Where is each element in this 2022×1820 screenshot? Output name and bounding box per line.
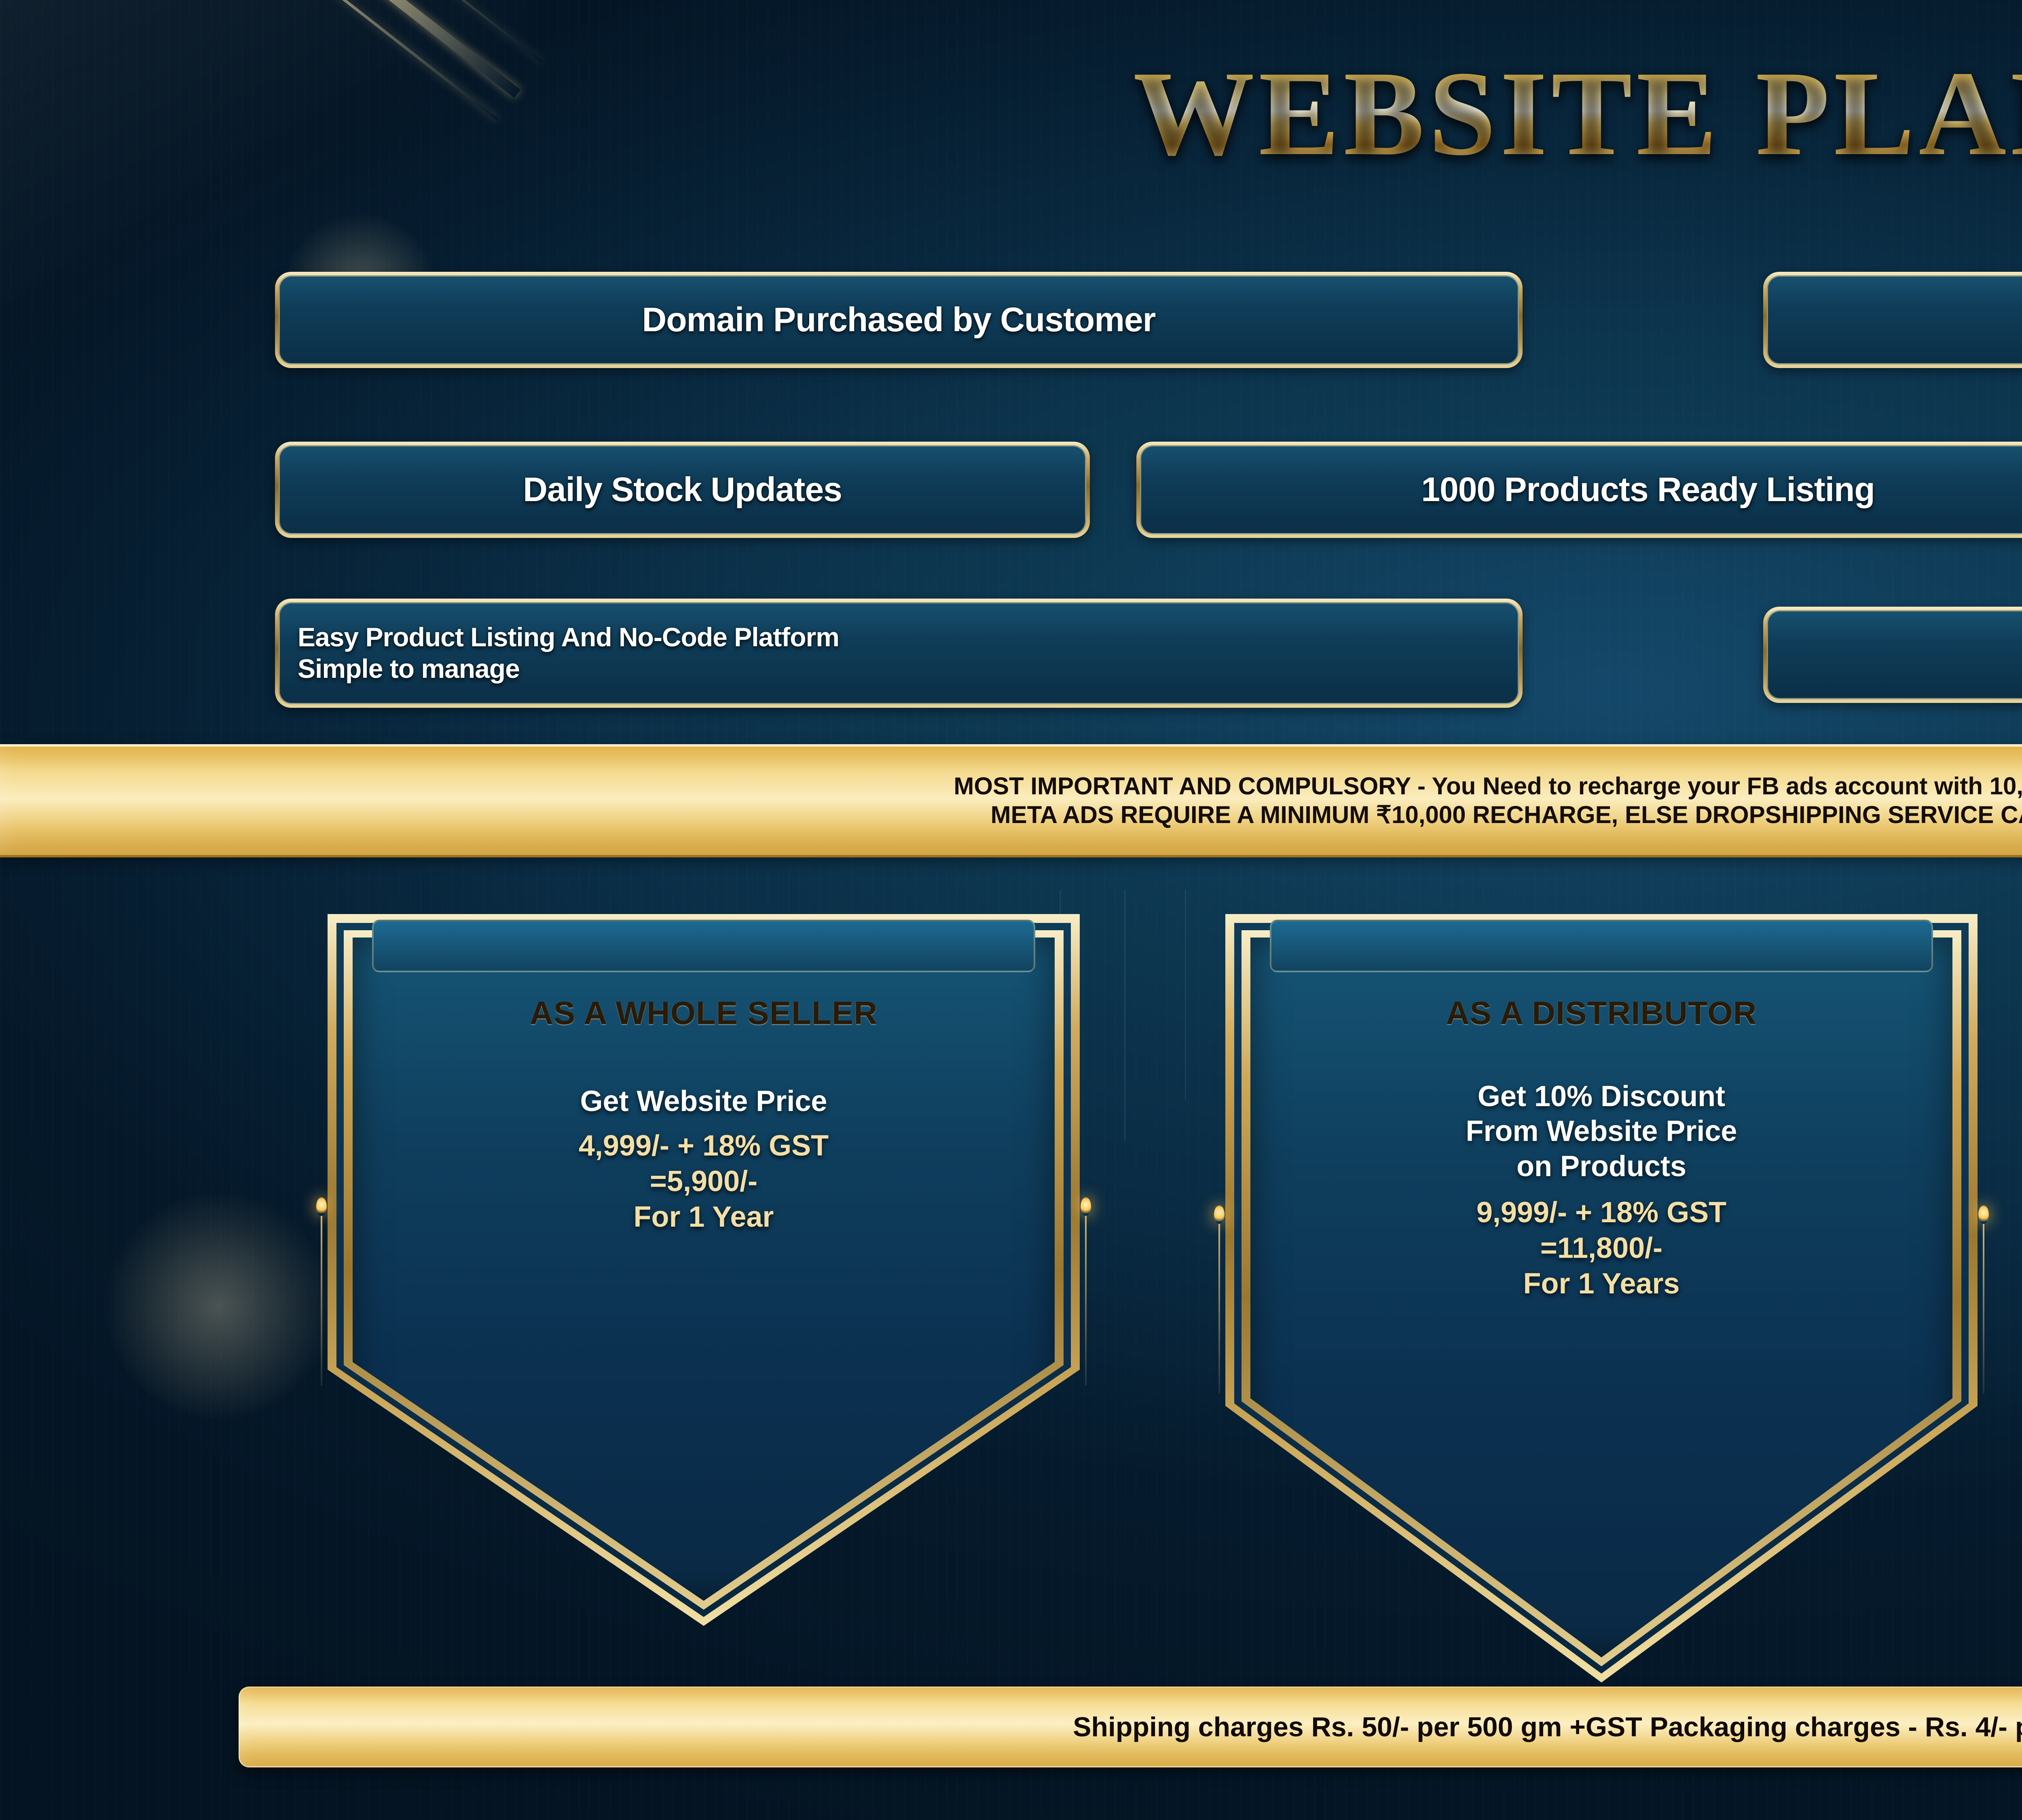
feature-pill-products-listing[interactable]: 1000 Products Ready Listing (1136, 442, 2022, 538)
plan-white-line: Get 10% Discount (1478, 1079, 1725, 1114)
plan-content: Get Website Price 4,999/- + 18% GST =5,9… (372, 1084, 1035, 1235)
shield-top-bar (372, 920, 1035, 972)
plan-white-line: on Products (1516, 1149, 1686, 1184)
plan-gold-line: For 1 Year (634, 1200, 774, 1235)
feature-pill-domain-purchased[interactable]: Domain Purchased by Customer (275, 272, 1523, 368)
feature-pill-google-ads-meta[interactable]: Google Ads & Meta Pixel Integration (1763, 607, 2022, 703)
plan-gold-line: 4,999/- + 18% GST (579, 1128, 829, 1164)
notice-line-2: META ADS REQUIRE A MINIMUM ₹10,000 RECHA… (991, 801, 2022, 830)
plan-gold-line: =11,800/- (1540, 1231, 1662, 1266)
poster-canvas: WEBSITE PLAN Domain Purchased by Custome… (0, 0, 2022, 1820)
shield-pin-light-right (1081, 1197, 1091, 1386)
feature-pill-order-management[interactable]: Order Management Panel (1763, 272, 2022, 368)
shield-pin-light-left (1214, 1205, 1225, 1394)
shield-pin-light-left (316, 1197, 327, 1386)
feature-label: Domain Purchased by Customer (642, 302, 1156, 337)
shield-pin-light-right (1978, 1205, 1989, 1394)
feature-label-line-2: Simple to manage (298, 653, 520, 685)
shield-top-bar (1270, 920, 1933, 972)
plan-ribbon-label: AS A DISTRIBUTOR (1446, 995, 1757, 1032)
plan-card-distributor[interactable]: AS A DISTRIBUTOR Get 10% Discount From W… (1225, 914, 1978, 1682)
plan-card-whole-seller[interactable]: AS A WHOLE SELLER Get Website Price 4,99… (328, 914, 1080, 1626)
feature-pill-easy-product-listing[interactable]: Easy Product Listing And No-Code Platfor… (275, 599, 1523, 708)
notice-line-1-rest: You Need to recharge your FB ads account… (1426, 772, 2022, 800)
feature-pill-daily-stock[interactable]: Daily Stock Updates (275, 442, 1090, 538)
feature-label: 1000 Products Ready Listing (1421, 472, 1874, 507)
notice-line-1-bold: MOST IMPORTANT AND COMPULSORY - (954, 772, 1426, 800)
plan-content: Get 10% Discount From Website Price on P… (1270, 1079, 1933, 1302)
page-title: WEBSITE PLAN (0, 53, 2022, 174)
compulsory-notice-banner: MOST IMPORTANT AND COMPULSORY - You Need… (0, 744, 2022, 857)
plan-gold-line: =5,900/- (650, 1164, 757, 1200)
plan-gold-line: For 1 Years (1523, 1266, 1680, 1302)
plan-white-line: Get Website Price (580, 1084, 827, 1119)
shipping-charges-label: Shipping charges Rs. 50/- per 500 gm +GS… (1073, 1711, 2022, 1743)
shipping-charges-bar: Shipping charges Rs. 50/- per 500 gm +GS… (239, 1687, 2022, 1767)
feature-label: Daily Stock Updates (523, 472, 842, 507)
plan-gold-line: 9,999/- + 18% GST (1476, 1195, 1726, 1231)
plan-ribbon: AS A WHOLE SELLER (307, 979, 1101, 1048)
notice-line-1: MOST IMPORTANT AND COMPULSORY - You Need… (954, 772, 2022, 801)
plan-white-line: From Website Price (1466, 1114, 1737, 1149)
bokeh-glow (105, 1193, 332, 1420)
feature-label-line-1: Easy Product Listing And No-Code Platfor… (298, 622, 839, 653)
plan-ribbon: AS A DISTRIBUTOR (1204, 979, 1999, 1048)
plan-ribbon-label: AS A WHOLE SELLER (530, 995, 878, 1032)
